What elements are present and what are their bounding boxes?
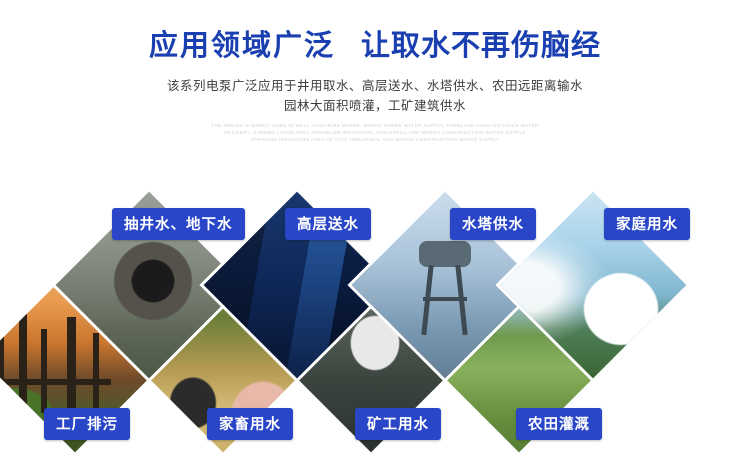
header: 应用领域广泛 让取水不再伤脑经 该系列电泵广泛应用于井用取水、高层送水、水塔供水… [0,0,750,143]
description-line-2: 园林大面积喷灌，工矿建筑供水 [0,96,750,116]
description-line-1: 该系列电泵广泛应用于井用取水、高层送水、水塔供水、农田远距离输水 [0,76,750,96]
label-household: 家庭用水 [604,208,690,240]
title-row: 应用领域广泛 让取水不再伤脑经 [0,22,750,64]
label-miner: 矿工用水 [355,408,441,440]
english-caption-line-1: THE SERIES IS WIDELY USED IN WELL, HIGH-… [0,122,750,129]
english-caption-line-3: SPRAYING IRRIGATION AREA OF CITY, INDUST… [0,136,750,143]
label-farmland: 农田灌溉 [516,408,602,440]
label-livestock: 家畜用水 [207,408,293,440]
label-tower: 水塔供水 [450,208,536,240]
page-subtitle: 让取水不再伤脑经 [361,22,601,64]
diamond-collage: 抽井水、地下水 高层送水 水塔供水 家庭用水 工厂排污 家畜用水 矿工用水 农田… [0,168,750,468]
description: 该系列电泵广泛应用于井用取水、高层送水、水塔供水、农田远距离输水 园林大面积喷灌… [0,76,750,116]
label-factory: 工厂排污 [44,408,130,440]
english-caption: THE SERIES IS WIDELY USED IN WELL, HIGH-… [0,122,750,143]
page-title: 应用领域广泛 [149,22,335,64]
english-caption-line-2: DELIVERY, GARDEN LARGE AREA SPRINKLER IR… [0,129,750,136]
promo-banner: 应用领域广泛 让取水不再伤脑经 该系列电泵广泛应用于井用取水、高层送水、水塔供水… [0,0,750,468]
label-well: 抽井水、地下水 [112,208,245,240]
label-highrise: 高层送水 [285,208,371,240]
